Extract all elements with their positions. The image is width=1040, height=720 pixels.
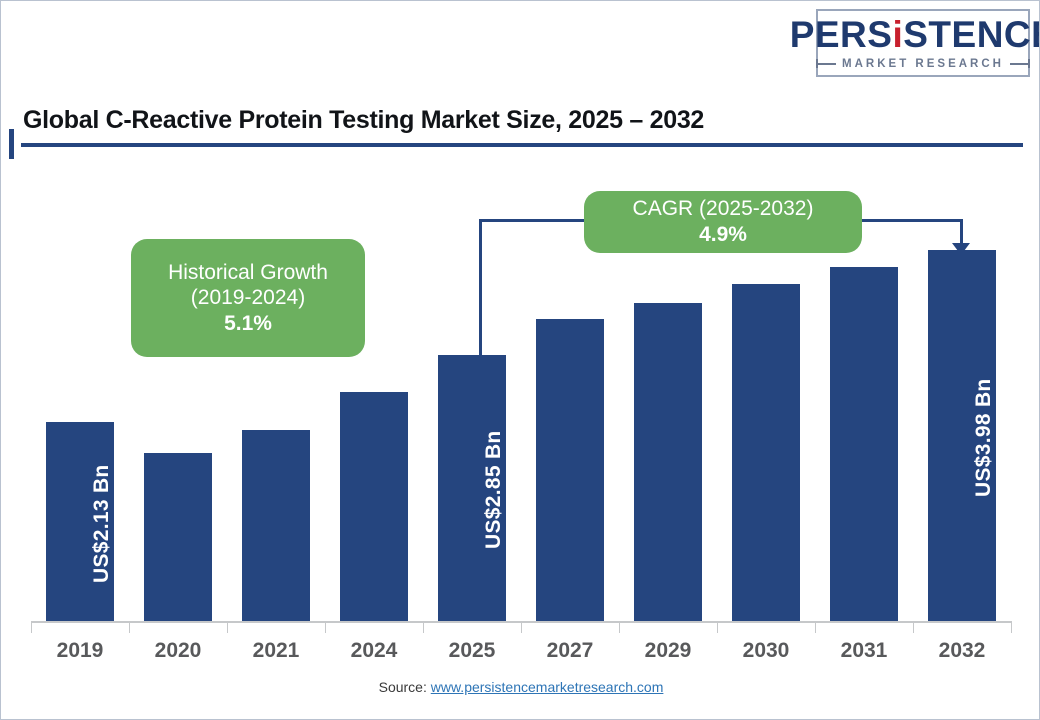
cagr-connector-horizontal: [859, 219, 963, 222]
x-axis-tick-2024: [325, 621, 326, 633]
historical-callout-line1: Historical Growth: [168, 260, 328, 286]
x-axis-label-2031: 2031: [816, 639, 912, 663]
x-axis-label-2032: 2032: [914, 639, 1010, 663]
bar-chart: US$2.13 BnUS$2.85 BnUS$3.98 Bn Historica…: [1, 1, 1040, 720]
source-note: Source: www.persistencemarketresearch.co…: [1, 679, 1040, 695]
bar-2031: [830, 267, 898, 621]
x-axis-tick-2019: [31, 621, 32, 633]
historical-connector-horizontal: [479, 219, 587, 222]
historical-connector-vertical: [479, 219, 482, 377]
chart-page: PERSiSTENCE MARKET RESEARCH Global C-Rea…: [0, 0, 1040, 720]
x-axis-label-2024: 2024: [326, 639, 422, 663]
x-axis-label-2019: 2019: [32, 639, 128, 663]
x-axis-tick-2020: [129, 621, 130, 633]
x-axis-tick-2025: [423, 621, 424, 633]
x-axis-label-2030: 2030: [718, 639, 814, 663]
bar-2029: [634, 303, 702, 621]
x-axis-tick-2032: [913, 621, 914, 633]
x-axis-tick-2031: [815, 621, 816, 633]
cagr-arrowhead-icon: [952, 243, 970, 255]
x-axis-tick-2027: [521, 621, 522, 633]
x-axis-tick-2030: [717, 621, 718, 633]
bar-value-label-2032: US$3.98 Bn: [928, 264, 996, 611]
x-axis-label-2029: 2029: [620, 639, 716, 663]
bar-2020: [144, 453, 212, 621]
historical-callout-line2: (2019-2024): [191, 285, 305, 311]
x-axis-tick-2021: [227, 621, 228, 633]
historical-growth-callout: Historical Growth (2019-2024) 5.1%: [131, 239, 365, 357]
cagr-callout: CAGR (2025-2032) 4.9%: [584, 191, 862, 253]
source-label: Source:: [379, 679, 427, 695]
historical-callout-value: 5.1%: [224, 311, 272, 337]
bar-2030: [732, 284, 800, 621]
bar-value-label-2019: US$2.13 Bn: [46, 436, 114, 611]
x-axis-label-2027: 2027: [522, 639, 618, 663]
cagr-callout-value: 4.9%: [699, 222, 747, 248]
source-link[interactable]: www.persistencemarketresearch.com: [431, 679, 664, 695]
x-axis-tick-end: [1011, 621, 1012, 633]
x-axis-tick-2029: [619, 621, 620, 633]
bar-2024: [340, 392, 408, 621]
bar-2021: [242, 430, 310, 621]
bar-value-label-2025: US$2.85 Bn: [438, 369, 506, 611]
cagr-connector-vertical: [960, 219, 963, 245]
x-axis-label-2025: 2025: [424, 639, 520, 663]
x-axis-label-2021: 2021: [228, 639, 324, 663]
bar-2027: [536, 319, 604, 621]
cagr-callout-line1: CAGR (2025-2032): [633, 196, 814, 222]
x-axis-label-2020: 2020: [130, 639, 226, 663]
